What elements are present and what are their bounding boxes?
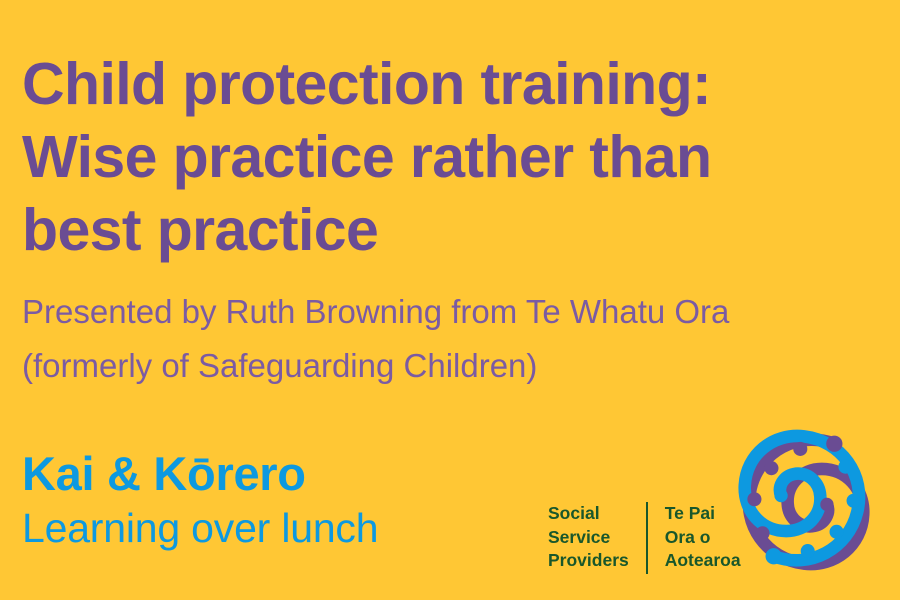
logo-text-left: Social Service Providers bbox=[548, 502, 629, 573]
series-subtitle: Learning over lunch bbox=[22, 502, 378, 554]
presenter-subtitle: Presented by Ruth Browning from Te Whatu… bbox=[22, 285, 882, 393]
series-title: Kai & Kōrero bbox=[22, 446, 378, 502]
subtitle-line-1: Presented by Ruth Browning from Te Whatu… bbox=[22, 285, 882, 339]
logo-wordmark: Social Service Providers Te Pai Ora o Ao… bbox=[548, 502, 741, 574]
logo-left-line-3: Providers bbox=[548, 549, 629, 573]
koru-double-spiral-icon bbox=[730, 426, 878, 574]
subtitle-line-2: (formerly of Safeguarding Children) bbox=[22, 339, 882, 393]
headline-line-3: best practice bbox=[22, 194, 862, 267]
logo-left-line-1: Social bbox=[548, 502, 629, 526]
logo-divider bbox=[646, 502, 648, 574]
page-title: Child protection training: Wise practice… bbox=[22, 48, 862, 267]
headline-line-2: Wise practice rather than bbox=[22, 121, 862, 194]
organisation-logo: Social Service Providers Te Pai Ora o Ao… bbox=[548, 424, 888, 584]
logo-left-line-2: Service bbox=[548, 526, 629, 550]
series-branding: Kai & Kōrero Learning over lunch bbox=[22, 446, 378, 554]
promo-poster: Child protection training: Wise practice… bbox=[0, 0, 900, 600]
headline-line-1: Child protection training: bbox=[22, 48, 862, 121]
